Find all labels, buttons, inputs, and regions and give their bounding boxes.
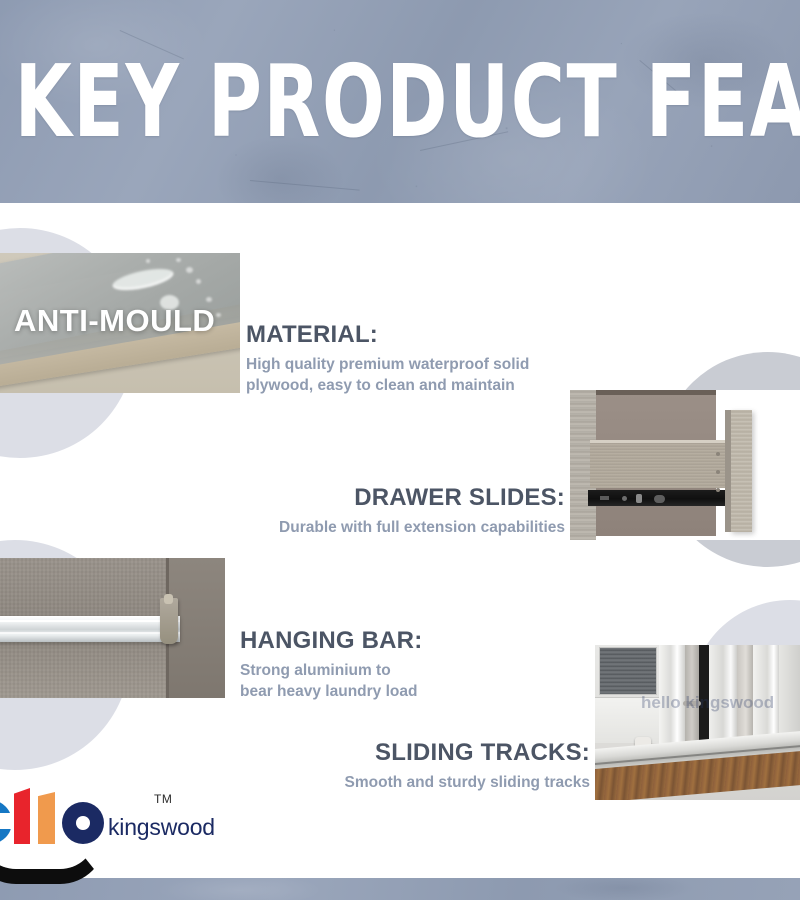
feature-hanging-bar-body: Strong aluminium to bear heavy laundry l… <box>240 660 540 702</box>
banner-crack-4 <box>250 180 360 191</box>
poster-canvas: KEY PRODUCT FEATURES ANTI-MOULD MATERIAL… <box>0 0 800 900</box>
feature-drawer-slides-body: Durable with full extension capabilities <box>230 517 565 538</box>
logo-orange-bar-icon <box>38 792 55 844</box>
page-title: KEY PRODUCT FEATURES <box>15 52 786 152</box>
header-banner: KEY PRODUCT FEATURES <box>0 0 800 203</box>
feature-hanging-bar: HANGING BAR: Strong aluminium to bear he… <box>240 626 540 702</box>
feature-material: MATERIAL: High quality premium waterproo… <box>246 320 586 396</box>
logo-wordmark: kingswood <box>108 814 215 841</box>
feature-sliding-tracks-body: Smooth and sturdy sliding tracks <box>280 772 590 793</box>
feature-drawer-slides: DRAWER SLIDES: Durable with full extensi… <box>230 483 565 538</box>
hanging-bar-photo <box>0 558 225 698</box>
logo-trademark: TM <box>154 792 172 806</box>
feature-material-body: High quality premium waterproof solid pl… <box>246 354 586 396</box>
feature-sliding-tracks: SLIDING TRACKS: Smooth and sturdy slidin… <box>280 738 590 793</box>
feature-hanging-bar-heading: HANGING BAR: <box>240 626 540 656</box>
logo-mark: kingswood TM <box>8 790 178 866</box>
sliding-tracks-photo: hello kingswood <box>595 645 800 800</box>
feature-sliding-tracks-heading: SLIDING TRACKS: <box>280 738 590 768</box>
plywood-photo-label: ANTI-MOULD <box>14 303 215 339</box>
logo-red-bar-icon <box>14 788 30 844</box>
footer-banner <box>0 878 800 900</box>
feature-drawer-slides-heading: DRAWER SLIDES: <box>230 483 565 513</box>
brand-logo[interactable]: kingswood TM <box>8 790 178 866</box>
feature-material-heading: MATERIAL: <box>246 320 586 350</box>
drawer-slide-photo <box>570 390 800 540</box>
